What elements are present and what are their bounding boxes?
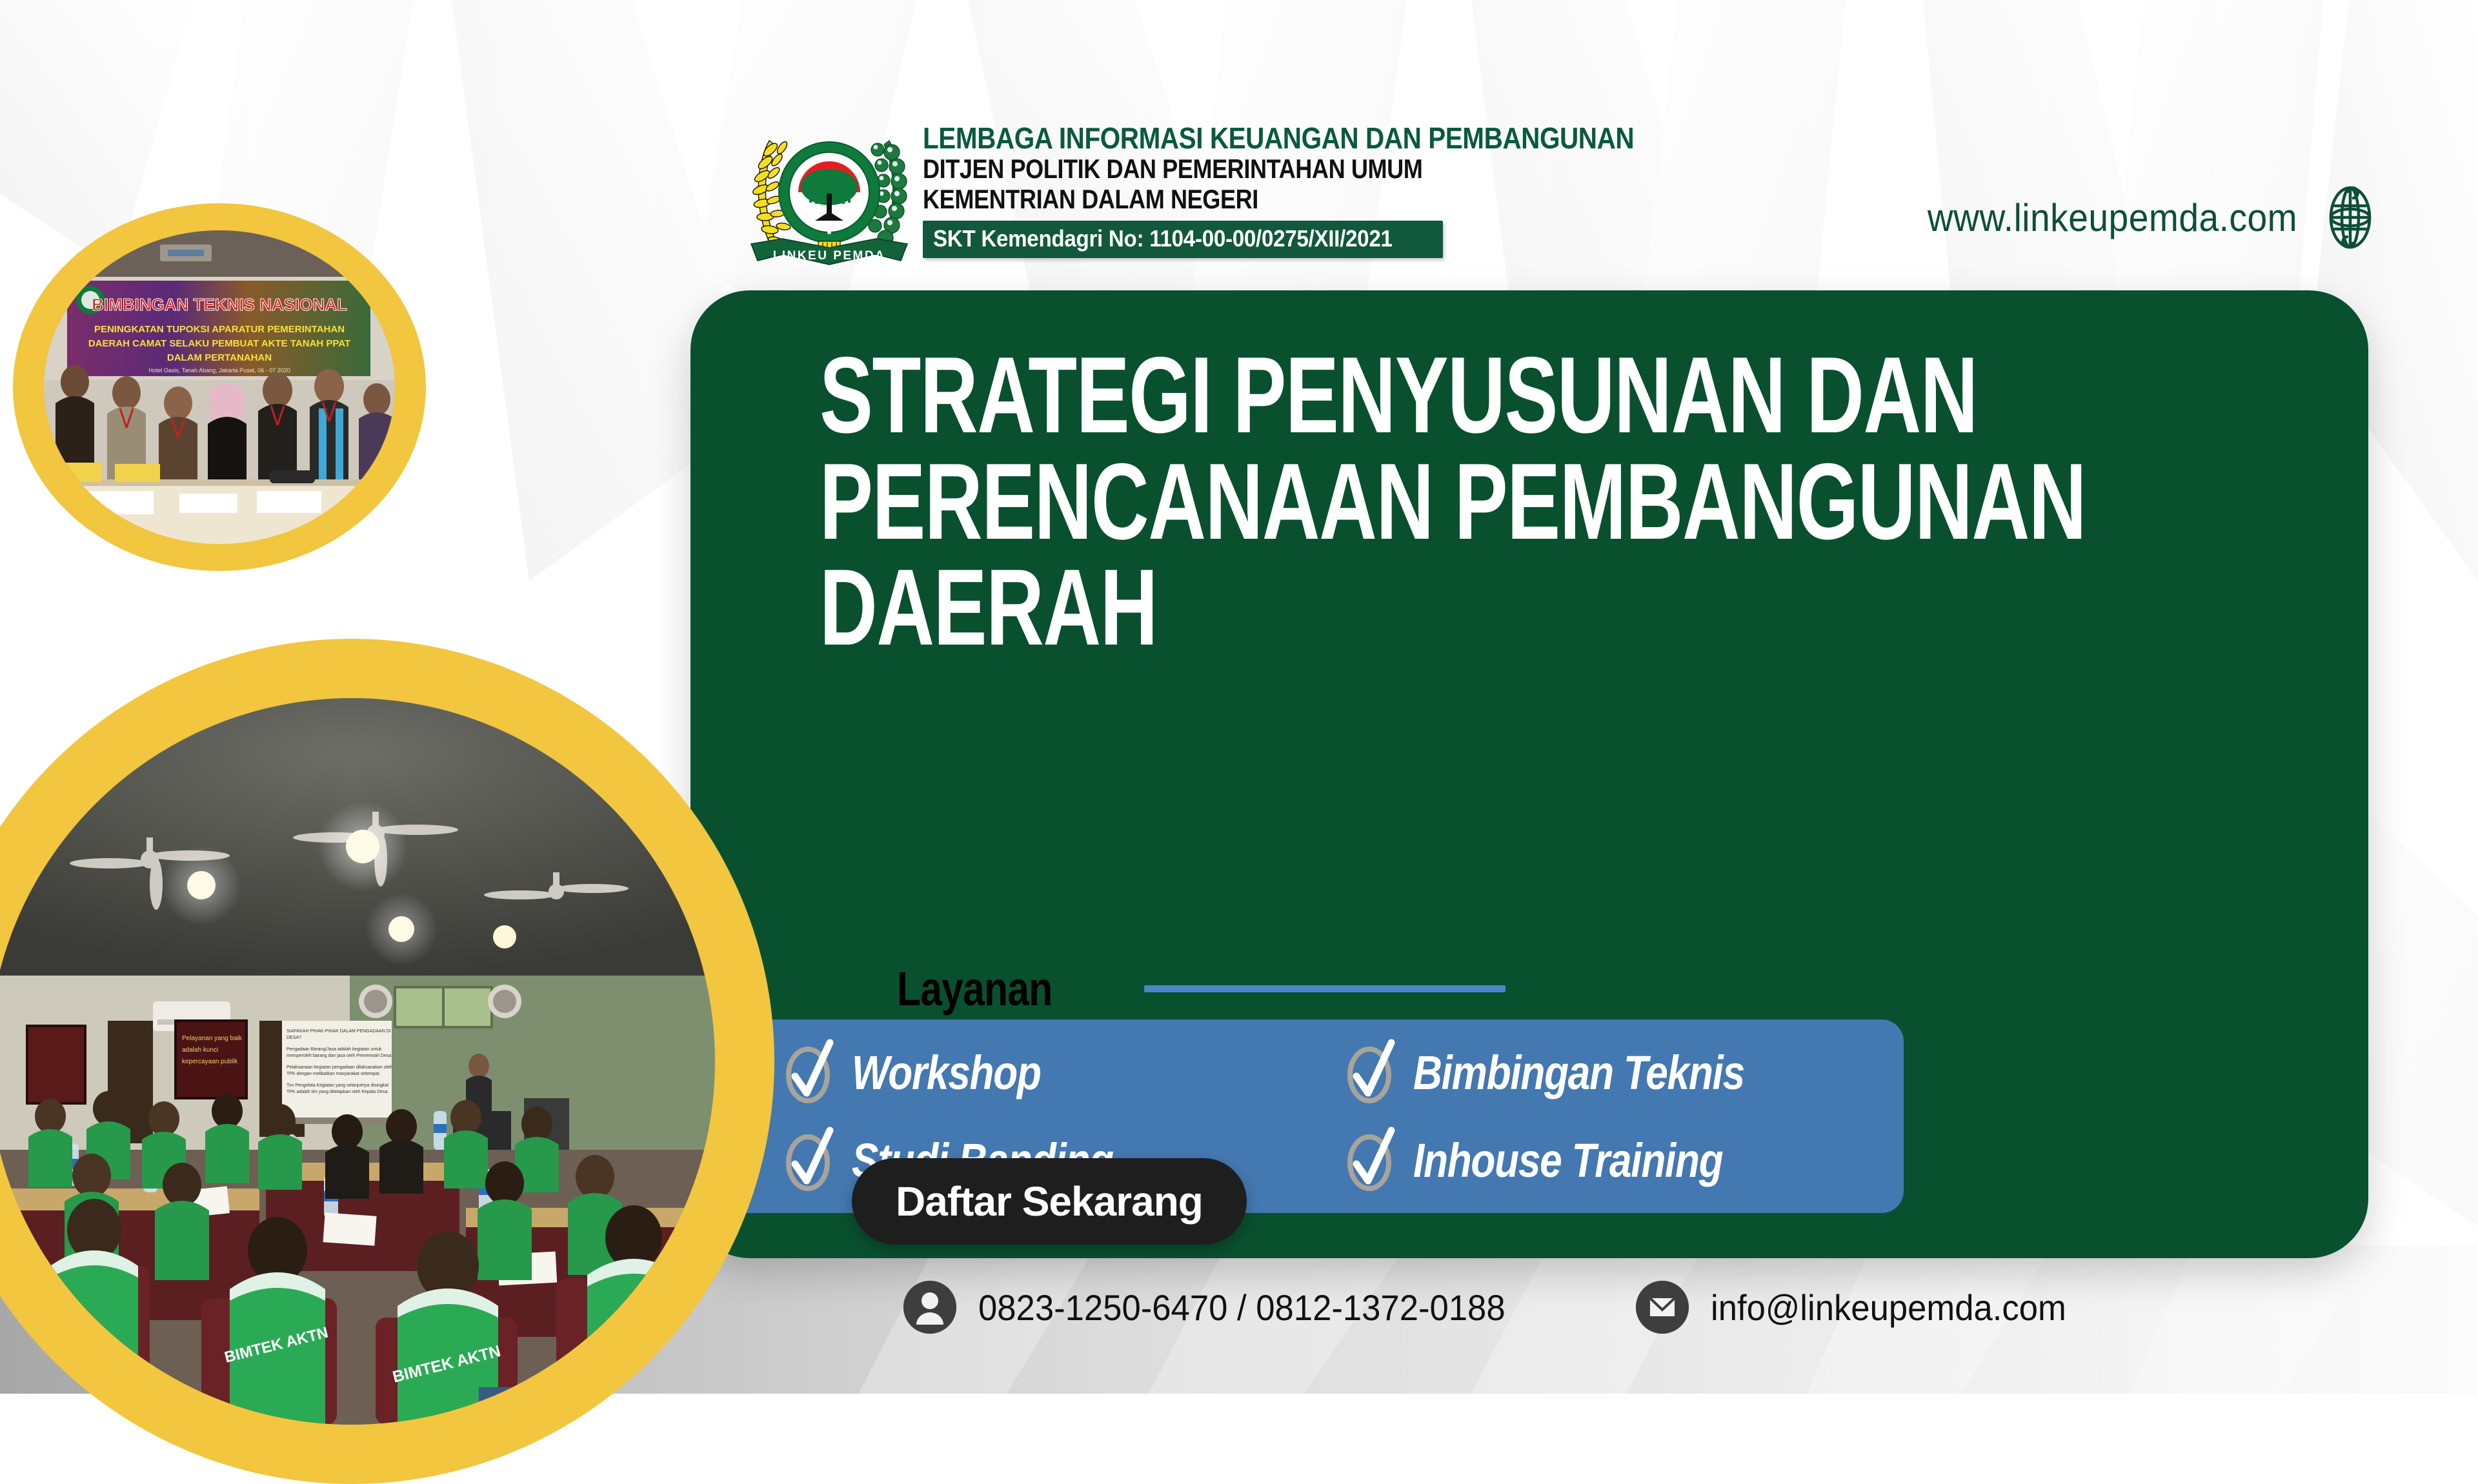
svg-text:kepercayaan publik: kepercayaan publik bbox=[182, 1058, 238, 1065]
service-label: Bimbingan Teknis bbox=[1413, 1045, 1744, 1100]
website-block[interactable]: www.linkeupemda.com bbox=[1895, 184, 2381, 251]
svg-text:SIAPAKAH PIHAK-PIHAK DALAM PEN: SIAPAKAH PIHAK-PIHAK DALAM PENGADAAN DI bbox=[287, 1029, 391, 1034]
title-line-2: PERENCANAAN PEMBANGUNAN bbox=[820, 448, 1822, 555]
skt-badge-text: SKT Kemendagri No: 1104-00-00/0275/XII/2… bbox=[933, 225, 1393, 252]
check-circle-icon bbox=[1342, 1039, 1396, 1106]
svg-text:adalah kunci: adalah kunci bbox=[182, 1047, 218, 1054]
page-title: STRATEGI PENYUSUNAN DAN PERENCANAAN PEMB… bbox=[820, 342, 2175, 661]
contact-phone[interactable]: 0823-1250-6470 / 0812-1372-0188 bbox=[903, 1281, 1539, 1334]
linkeu-pemda-emblem-logo: LEMBAGA INFORMASI KEUANGAN DAN PEMBANGUN… bbox=[742, 121, 916, 283]
hero-card: STRATEGI PENYUSUNAN DAN PERENCANAAN PEMB… bbox=[690, 290, 2368, 1258]
photo-group-seminar-image: BIMBINGAN TEKNIS NASIONAL PENINGKATAN TU… bbox=[44, 230, 395, 544]
service-label: Inhouse Training bbox=[1413, 1133, 1722, 1188]
service-label: Workshop bbox=[852, 1045, 1041, 1100]
service-item-workshop[interactable]: Workshop bbox=[781, 1030, 1342, 1114]
service-item-inhouse-training[interactable]: Inhouse Training bbox=[1342, 1118, 1904, 1202]
svg-text:memperoleh barang dan jasa ole: memperoleh barang dan jasa oleh Pemerint… bbox=[287, 1054, 392, 1058]
check-circle-icon bbox=[1342, 1127, 1396, 1194]
phone-number: 0823-1250-6470 / 0812-1372-0188 bbox=[978, 1287, 1506, 1329]
check-circle-icon bbox=[781, 1127, 835, 1194]
footer-contacts: 0823-1250-6470 / 0812-1372-0188 info@lin… bbox=[903, 1281, 2089, 1334]
services-heading-row: Layanan bbox=[897, 961, 1506, 1016]
svg-text:Tim Pengelola Kegiatan yang se: Tim Pengelola Kegiatan yang selanjutnya … bbox=[287, 1083, 388, 1088]
globe-icon bbox=[2319, 184, 2381, 251]
svg-text:Pengadaan Barang/Jasa adalah k: Pengadaan Barang/Jasa adalah kegiatan un… bbox=[287, 1047, 382, 1052]
website-url[interactable]: www.linkeupemda.com bbox=[1928, 196, 2297, 240]
svg-text:DESA?: DESA? bbox=[287, 1036, 301, 1040]
title-line-3: DAERAH bbox=[820, 554, 1822, 661]
svg-text:PENINGKATAN TUPOKSI APARATUR P: PENINGKATAN TUPOKSI APARATUR PEMERINTAHA… bbox=[94, 324, 345, 335]
register-now-label: Daftar Sekarang bbox=[896, 1178, 1203, 1225]
emblem-svg: LEMBAGA INFORMASI KEUANGAN DAN PEMBANGUN… bbox=[742, 121, 916, 283]
contact-email[interactable]: info@linkeupemda.com bbox=[1636, 1281, 2089, 1334]
check-circle-icon bbox=[781, 1039, 835, 1106]
skt-badge: SKT Kemendagri No: 1104-00-00/0275/XII/2… bbox=[923, 221, 1443, 258]
svg-text:Pelayanan yang baik: Pelayanan yang baik bbox=[182, 1035, 243, 1042]
svg-text:TPK adalah tim yang ditetapkan: TPK adalah tim yang ditetapkan oleh Kepa… bbox=[287, 1090, 388, 1094]
photo-group-seminar: BIMBINGAN TEKNIS NASIONAL PENINGKATAN TU… bbox=[13, 203, 426, 571]
organisation-titles: LEMBAGA INFORMASI KEUANGAN DAN PEMBANGUN… bbox=[923, 123, 1516, 258]
services-heading: Layanan bbox=[897, 961, 1052, 1016]
title-line-1: STRATEGI PENYUSUNAN DAN bbox=[820, 342, 1822, 448]
org-line-2: DITJEN POLITIK DAN PEMERINTAHAN UMUM bbox=[923, 154, 1433, 184]
service-item-bimbingan-teknis[interactable]: Bimbingan Teknis bbox=[1342, 1030, 1904, 1114]
register-now-button[interactable]: Daftar Sekarang bbox=[852, 1158, 1247, 1245]
header: LEMBAGA INFORMASI KEUANGAN DAN PEMBANGUN… bbox=[736, 116, 1510, 284]
svg-text:DAERAH CAMAT SELAKU PEMBUAT AK: DAERAH CAMAT SELAKU PEMBUAT AKTE TANAH P… bbox=[88, 338, 350, 349]
emblem-ribbon-text: LINKEU PEMDA bbox=[773, 249, 886, 263]
services-heading-rule bbox=[1144, 985, 1506, 992]
envelope-icon bbox=[1636, 1281, 1689, 1334]
svg-text:Pelaksanaan kegiatan pengadaan: Pelaksanaan kegiatan pengadaan dilaksana… bbox=[287, 1065, 392, 1070]
org-line-3: KEMENTRIAN DALAM NEGERI bbox=[923, 184, 1433, 214]
svg-text:TPK dengan melibatkan masyarak: TPK dengan melibatkan masyarakat setempa… bbox=[287, 1072, 381, 1076]
svg-text:Hotel Oasis, Tanah Abang, Jaka: Hotel Oasis, Tanah Abang, Jakarta Pusat,… bbox=[148, 367, 290, 374]
svg-text:DALAM PERTANAHAN: DALAM PERTANAHAN bbox=[167, 352, 272, 363]
svg-text:BIMBINGAN TEKNIS NASIONAL: BIMBINGAN TEKNIS NASIONAL bbox=[92, 295, 347, 314]
photo-training-room-image: Pelayanan yang baik adalah kunci keperca… bbox=[0, 698, 715, 1425]
person-icon bbox=[903, 1281, 956, 1334]
email-address: info@linkeupemda.com bbox=[1711, 1287, 2066, 1329]
org-line-1: LEMBAGA INFORMASI KEUANGAN DAN PEMBANGUN… bbox=[923, 123, 1445, 154]
